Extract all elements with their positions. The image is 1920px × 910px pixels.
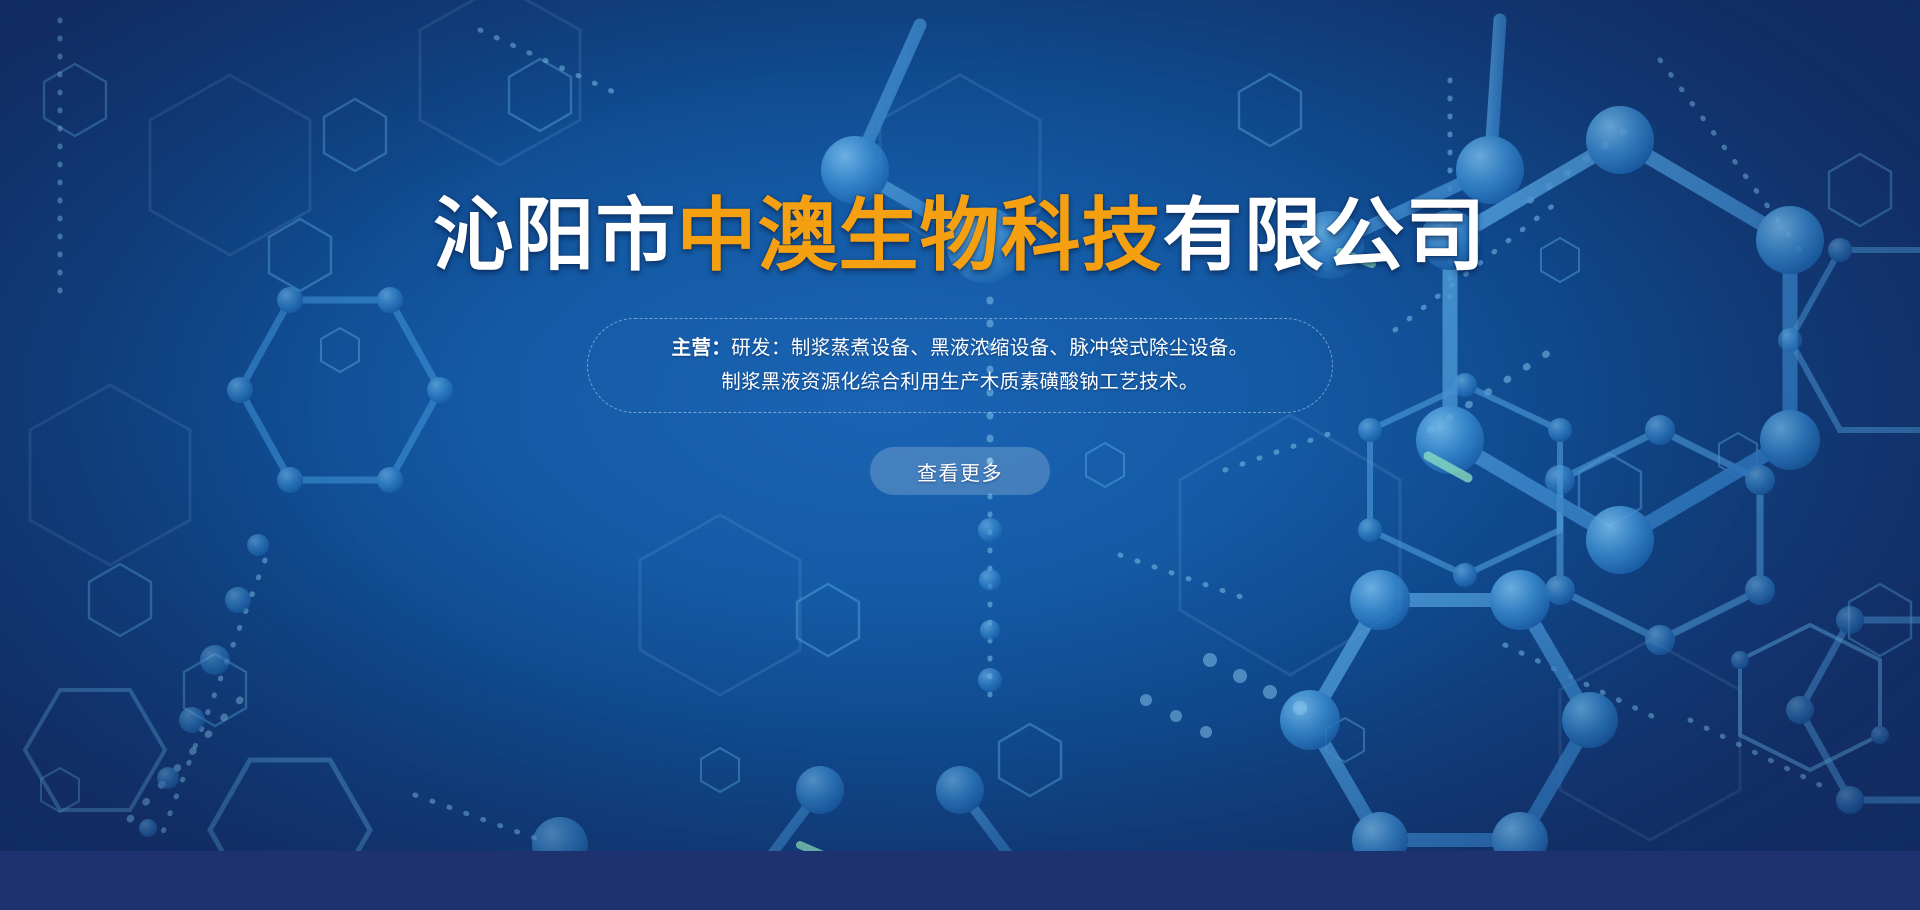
page-title: 沁阳市中澳生物科技有限公司	[434, 196, 1487, 276]
title-part-prefix: 沁阳市	[434, 191, 677, 280]
subtitle-box: 主营：研发：制浆蒸煮设备、黑液浓缩设备、脉冲袋式除尘设备。 制浆黑液资源化综合利…	[587, 318, 1333, 413]
hero-banner: 沁阳市中澳生物科技有限公司 主营：研发：制浆蒸煮设备、黑液浓缩设备、脉冲袋式除尘…	[0, 0, 1920, 910]
title-part-brand: 中澳生物科技	[677, 191, 1163, 280]
subtitle-lead-label: 主营：	[671, 337, 731, 359]
subtitle-line-1-text: 研发：制浆蒸煮设备、黑液浓缩设备、脉冲袋式除尘设备。	[731, 337, 1248, 359]
title-part-suffix: 有限公司	[1163, 191, 1487, 280]
subtitle-line-1: 主营：研发：制浆蒸煮设备、黑液浓缩设备、脉冲袋式除尘设备。	[671, 336, 1248, 362]
view-more-button[interactable]: 查看更多	[870, 447, 1050, 495]
bottom-navy-band	[0, 851, 1920, 910]
subtitle-line-2: 制浆黑液资源化综合利用生产木质素磺酸钠工艺技术。	[721, 370, 1199, 396]
hero-content: 沁阳市中澳生物科技有限公司 主营：研发：制浆蒸煮设备、黑液浓缩设备、脉冲袋式除尘…	[0, 0, 1920, 851]
